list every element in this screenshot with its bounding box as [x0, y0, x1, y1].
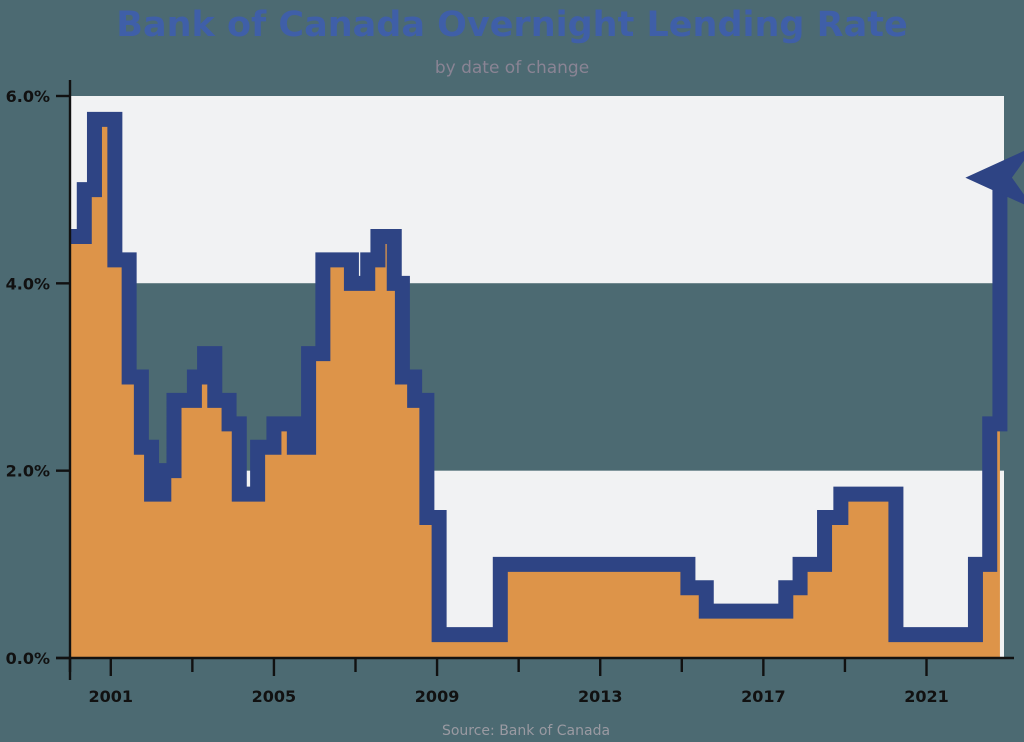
- x-tick-label: 2009: [415, 687, 460, 706]
- x-tick-label: 2005: [252, 687, 297, 706]
- source-note: Source: Bank of Canada: [442, 723, 610, 739]
- y-tick-label: 2.0%: [6, 462, 50, 481]
- x-tick-label: 2021: [904, 687, 949, 706]
- chart-figure: Bank of Canada Overnight Lending Rate by…: [0, 0, 1024, 742]
- chart-title: Bank of Canada Overnight Lending Rate: [116, 5, 907, 45]
- x-tick-label: 2017: [741, 687, 786, 706]
- y-tick-label: 4.0%: [6, 274, 50, 293]
- y-tick-label: 6.0%: [6, 87, 50, 106]
- chart-subtitle: by date of change: [435, 58, 589, 78]
- x-tick-label: 2001: [89, 687, 134, 706]
- y-tick-label: 0.0%: [6, 649, 50, 668]
- x-tick-label: 2013: [578, 687, 623, 706]
